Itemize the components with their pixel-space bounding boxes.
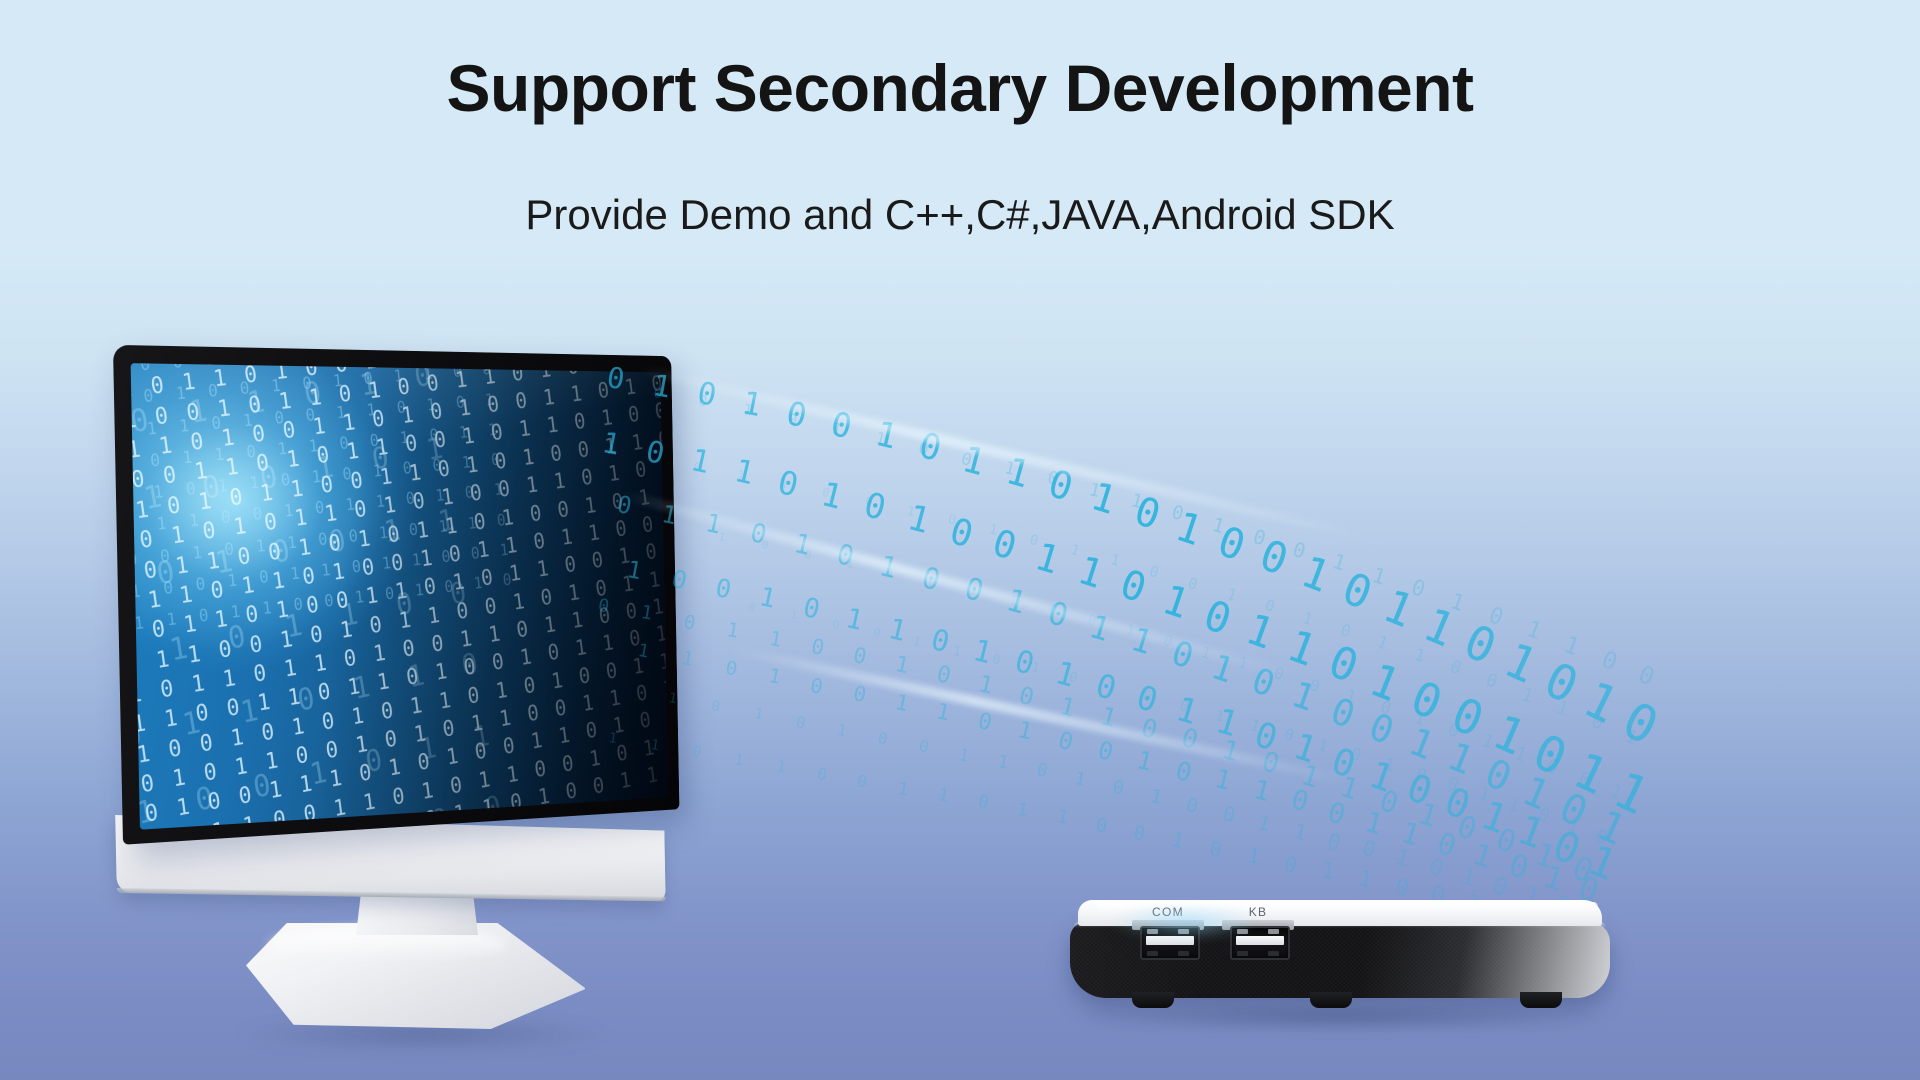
binary-digit: 0 <box>1478 750 1526 805</box>
binary-digit: 0 <box>1092 666 1130 710</box>
binary-digit: 0 <box>1597 645 1625 678</box>
binary-digit: 0 <box>1132 678 1170 722</box>
binary-digit: 1 <box>934 699 959 728</box>
binary-digit: 1 <box>1336 770 1369 809</box>
binary-digit: 0 <box>947 512 962 529</box>
binary-digit: 1 <box>1297 758 1329 796</box>
binary-digit: 1 <box>1518 684 1539 709</box>
binary-digit: 1 <box>1248 716 1265 737</box>
binary-digit: 0 <box>1568 850 1605 893</box>
device-foot-right <box>1520 992 1562 1008</box>
binary-digit: 1 <box>1156 575 1205 632</box>
binary-digit: 0 <box>1282 725 1300 746</box>
binary-digit: 0 <box>1250 525 1273 552</box>
binary-digit: 0 <box>1044 461 1089 513</box>
binary-digit: 0 <box>1535 651 1596 720</box>
binary-digit: 1 <box>1393 845 1417 874</box>
binary-digit: 1 <box>1343 686 1362 708</box>
binary-digit: 0 <box>1086 612 1102 631</box>
binary-digit: 1 <box>1030 660 1045 677</box>
binary-digit: 0 <box>1208 836 1229 863</box>
binary-digit: 0 <box>1349 744 1368 766</box>
binary-digit: 1 <box>1414 796 1448 836</box>
usb-notch <box>1178 951 1189 956</box>
binary-digit: 1 <box>1128 490 1149 514</box>
binary-digit: 1 <box>1069 542 1085 561</box>
binary-digit: 1 <box>1485 704 1544 771</box>
binary-digit: 0 <box>1011 644 1046 685</box>
binary-digit: 1 <box>1523 616 1550 647</box>
binary-digit: 1 <box>836 721 853 741</box>
binary-digit: 0 <box>915 425 956 473</box>
binary-digit: 0 <box>1093 814 1113 839</box>
page-title: Support Secondary Development <box>0 52 1920 125</box>
binary-digit: 0 <box>1138 712 1167 747</box>
binary-digit: 0 <box>1505 848 1540 889</box>
binary-digit: 1 <box>1212 764 1241 799</box>
binary-digit: 0 <box>1408 575 1433 604</box>
binary-digit: 0 <box>1148 563 1165 583</box>
binary-digit: 0 <box>800 592 831 628</box>
binary-digit: 1 <box>1590 800 1641 859</box>
binary-digit: 0 <box>975 708 1001 738</box>
binary-digit: 1 <box>1416 597 1473 662</box>
binary-digit: 0 <box>794 713 811 733</box>
binary-digit: 0 <box>1325 828 1348 857</box>
binary-digit: 1 <box>1363 653 1418 716</box>
device-foot-center <box>1310 992 1352 1008</box>
binary-digit: 0 <box>1588 711 1610 736</box>
binary-digit: 1 <box>893 652 918 681</box>
binary-digit: 1 <box>1199 643 1216 664</box>
binary-digit: 1 <box>1210 513 1232 540</box>
binary-digit: 1 <box>817 474 857 519</box>
device-foot-left <box>1132 992 1174 1008</box>
binary-digit: 0 <box>945 509 988 559</box>
binary-digit: 0 <box>1095 735 1123 768</box>
binary-digit: 1 <box>845 556 859 572</box>
binary-digit: 0 <box>783 394 821 438</box>
binary-digit: 1 <box>937 785 956 807</box>
binary-digit: 0 <box>1453 809 1488 850</box>
binary-digit: 0 <box>1525 723 1585 792</box>
binary-digit: 1 <box>1286 674 1329 723</box>
binary-digit: 1 <box>1565 741 1626 811</box>
binary-digit: 1 <box>1398 815 1431 854</box>
binary-digit: 0 <box>927 622 961 661</box>
monitor-bezel: 1 0 0 1 1 0 1 0 0 1 1 0 0 1 0 1 1 1 0 1 … <box>113 345 679 845</box>
binary-digit: 0 <box>877 728 895 749</box>
usb-notch <box>1147 951 1158 956</box>
promo-banner: Support Secondary Development Provide De… <box>0 0 1920 1080</box>
binary-digit: 1 <box>1506 794 1527 819</box>
binary-digit: 0 <box>1325 689 1369 740</box>
binary-digit: 1 <box>1055 806 1075 830</box>
binary-digit: 1 <box>1364 752 1408 804</box>
binary-digit: 1 <box>1003 583 1039 624</box>
stream-light-streak <box>726 644 1354 787</box>
binary-digit: 0 <box>1378 697 1397 719</box>
binary-digit: 0 <box>976 792 995 814</box>
binary-digit: 0 <box>1132 821 1153 847</box>
binary-digit: 1 <box>1213 706 1230 727</box>
binary-digit: 1 <box>1250 774 1280 810</box>
binary-digit: 1 <box>1207 647 1248 694</box>
binary-digit: 0 <box>1258 746 1289 782</box>
binary-digit: 0 <box>1434 826 1467 866</box>
binary-digit: 0 <box>1045 468 1065 491</box>
binary-digit: 1 <box>885 612 918 650</box>
binary-digit: 0 <box>809 634 833 661</box>
binary-digit: 0 <box>1162 632 1179 652</box>
binary-digit: 1 <box>1496 632 1555 699</box>
binary-digit: 1 <box>957 744 976 767</box>
binary-digit: 1 <box>1376 579 1431 643</box>
binary-digit: 1 <box>1016 717 1042 747</box>
binary-digit: 0 <box>917 438 936 460</box>
binary-digit: 0 <box>1485 602 1511 633</box>
binary-digit: 1 <box>1469 837 1503 878</box>
binary-digit: 0 <box>815 764 833 785</box>
binary-digit: 0 <box>1067 669 1083 687</box>
binary-digit: 0 <box>851 681 875 708</box>
binary-digit: 1 <box>1170 828 1191 854</box>
binary-digit: 1 <box>1553 697 1575 722</box>
binary-digit: 1 <box>1281 621 1333 681</box>
binary-digit: 1 <box>1447 589 1472 619</box>
binary-digit: 0 <box>1544 755 1565 780</box>
binary-digit: 0 <box>1438 779 1484 832</box>
binary-digit: 0 <box>1324 795 1356 833</box>
binary-digit: 1 <box>1316 735 1334 757</box>
binary-digit: 0 <box>856 771 874 792</box>
binary-digit: 0 <box>1635 660 1664 693</box>
binary-digit: 0 <box>1263 596 1281 617</box>
binary-digit: 0 <box>1446 720 1466 744</box>
binary-digit: 1 <box>843 602 875 639</box>
binary-digit: 1 <box>1403 719 1449 772</box>
binary-digit: 1 <box>886 565 900 581</box>
binary-digit: 0 <box>1288 784 1319 820</box>
binary-digit: 1 <box>1411 645 1431 669</box>
page-subtitle: Provide Demo and C++,C#,JAVA,Android SDK <box>0 192 1920 238</box>
binary-digit: 1 <box>1086 474 1132 527</box>
binary-digit: 1 <box>958 437 1001 487</box>
binary-digit: 1 <box>1511 806 1559 862</box>
binary-digit: 1 <box>1087 479 1108 503</box>
binary-digit: 0 <box>803 547 816 563</box>
binary-digit: 0 <box>1404 670 1460 735</box>
device-stream-glow <box>1110 904 1260 940</box>
binary-digit: 1 <box>1382 754 1401 776</box>
binary-digit: 1 <box>1245 843 1267 870</box>
binary-digit: 1 <box>1356 866 1379 894</box>
binary-digit: 0 <box>1375 783 1409 823</box>
binary-digit: 1 <box>1369 562 1394 591</box>
binary-digit: 0 <box>919 560 953 600</box>
binary-digit: 0 <box>961 571 996 612</box>
binary-digit: 1 <box>1256 810 1278 837</box>
binary-digit: 1 <box>871 414 911 460</box>
binary-digit: 0 <box>1016 681 1043 713</box>
binary-digit: 1 <box>876 549 909 587</box>
binary-digit: 0 <box>860 485 901 532</box>
binary-digit: 0 <box>1490 872 1516 903</box>
binary-digit: 1 <box>1575 670 1637 740</box>
binary-digit: 0 <box>1055 726 1082 758</box>
binary-digit: 1 <box>1236 653 1254 674</box>
binary-digit: 1 <box>906 503 920 520</box>
binary-digit: 1 <box>1098 701 1127 735</box>
binary-digit: 1 <box>1412 708 1432 731</box>
binary-digit: 1 <box>1016 799 1035 823</box>
binary-digit: 1 <box>968 583 983 600</box>
binary-digit: 1 <box>1479 731 1499 755</box>
binary-digit: 0 <box>1186 574 1203 595</box>
binary-digit: 1 <box>1512 743 1533 768</box>
binary-digit: 1 <box>1622 725 1645 751</box>
binary-digit: 1 <box>1170 502 1219 559</box>
binary-digit: 1 <box>996 752 1015 775</box>
binary-digit: 0 <box>1184 793 1205 819</box>
binary-digit: 1 <box>1031 534 1076 586</box>
binary-digit: 1 <box>1330 549 1354 577</box>
binary-digit: 1 <box>1148 785 1169 810</box>
binary-digit: 1 <box>976 671 1002 701</box>
binary-digit: 1 <box>1605 760 1668 831</box>
binary-digit: 0 <box>1250 714 1291 762</box>
binary-digit: 1 <box>903 497 945 545</box>
binary-digit: 0 <box>1338 620 1357 642</box>
binary-digit: 0 <box>1614 690 1678 761</box>
binary-digit: 1 <box>1124 622 1140 641</box>
kvm-controller-box: COM KB <box>1070 900 1610 1030</box>
binary-digit: 1 <box>1361 805 1393 843</box>
binary-digit: 1 <box>1051 655 1087 697</box>
binary-digit: 1 <box>1441 734 1488 788</box>
binary-digit: 0 <box>1491 822 1527 863</box>
binary-digit: 1 <box>1288 726 1330 774</box>
binary-digit: 1 <box>1516 767 1565 823</box>
binary-digit: 1 <box>969 633 1004 674</box>
binary-digit: 0 <box>1290 537 1313 565</box>
monitor-screen: 1 0 0 1 1 0 1 0 0 1 1 0 0 1 0 1 1 1 0 1 … <box>131 363 669 830</box>
binary-digit: 0 <box>927 574 942 591</box>
binary-digit: 1 <box>1458 863 1483 893</box>
usb-pin <box>1268 929 1279 934</box>
binary-digit: 0 <box>1212 516 1262 574</box>
binary-digit: 1 <box>1225 585 1243 606</box>
binary-digit: 0 <box>1142 688 1158 707</box>
binary-digit: 0 <box>1035 760 1054 783</box>
binary-digit: 0 <box>1483 670 1504 694</box>
binary-digit: 1 <box>1001 449 1045 499</box>
binary-digit: 0 <box>1456 614 1514 680</box>
binary-digit: 0 <box>1308 675 1327 697</box>
binary-digit: 1 <box>988 522 1003 539</box>
binary-digit: 0 <box>864 494 878 510</box>
binary-digit: 0 <box>934 661 960 691</box>
binary-digit: 1 <box>1582 835 1632 893</box>
binary-digit: 0 <box>1426 854 1451 884</box>
binary-digit: 0 <box>1169 501 1191 527</box>
binary-digit: 1 <box>1564 815 1585 840</box>
binary-digit: 0 <box>1253 531 1304 590</box>
binary-digit: 1 <box>1007 593 1022 610</box>
binary-digit: 0 <box>1173 755 1202 790</box>
binary-digit: 0 <box>917 736 935 758</box>
binary-digit: 0 <box>774 463 813 507</box>
binary-digit: 1 <box>1476 784 1496 808</box>
binary-digit: 1 <box>1172 689 1211 735</box>
binary-digit: 1 <box>1108 552 1124 571</box>
binary-digit: 0 <box>1335 563 1389 624</box>
binary-digit: 0 <box>988 521 1032 572</box>
binary-digit: 1 <box>1240 605 1291 664</box>
binary-digit: 1 <box>893 690 918 719</box>
binary-digit: 1 <box>1561 631 1588 663</box>
binary-digit: 0 <box>1535 804 1556 829</box>
binary-digit: 1 <box>896 778 914 800</box>
binary-digit: 0 <box>1445 774 1465 797</box>
binary-digit: 1 <box>1295 547 1347 607</box>
binary-digit: 0 <box>1447 657 1467 681</box>
binary-digit: 0 <box>960 448 979 471</box>
binary-digit: 1 <box>1475 792 1522 847</box>
binary-digit: 0 <box>1359 836 1383 865</box>
binary-digit: 0 <box>1576 768 1598 793</box>
binary-digit: 1 <box>1073 548 1119 601</box>
binary-digit: 0 <box>1272 664 1290 685</box>
binary-digit: 0 <box>1401 765 1446 817</box>
all-in-one-desktop-monitor: 1 0 0 1 1 0 1 0 0 1 1 0 0 1 0 1 1 1 0 1 … <box>118 345 778 905</box>
binary-digit: 0 <box>1044 595 1081 637</box>
binary-digit: 0 <box>1028 532 1044 550</box>
screen-sheen <box>131 363 669 830</box>
binary-digit: 1 <box>1126 620 1165 665</box>
binary-digit: 0 <box>1546 821 1595 878</box>
binary-digit: 0 <box>851 643 876 672</box>
binary-digit: 0 <box>834 538 866 575</box>
binary-digit: 0 <box>991 652 1006 669</box>
binary-digit: 0 <box>1592 825 1614 851</box>
binary-digit: 1 <box>1057 691 1085 724</box>
binary-digit: 1 <box>779 476 792 492</box>
binary-digit: 0 <box>1167 633 1207 679</box>
binary-digit: 1 <box>1134 745 1162 778</box>
usb-notch <box>1237 951 1248 956</box>
binary-digit: 0 <box>1444 687 1502 753</box>
binary-digit: 1 <box>791 528 822 564</box>
binary-digit: 0 <box>786 410 803 430</box>
binary-digit: 0 <box>1246 660 1288 709</box>
binary-digit: 0 <box>1392 874 1415 903</box>
binary-digit: 1 <box>830 419 848 440</box>
binary-digit: 1 <box>1607 780 1630 806</box>
binary-digit: 0 <box>828 404 867 449</box>
binary-digit: 1 <box>1211 701 1251 748</box>
binary-digit: 0 <box>1111 777 1131 801</box>
binary-digit: 1 <box>1319 858 1342 886</box>
binary-digit: 1 <box>1375 632 1394 654</box>
binary-digit: 0 <box>831 617 845 633</box>
binary-digit: 1 <box>1301 608 1320 630</box>
binary-digit: 0 <box>1364 704 1409 756</box>
binary-digit: 1 <box>1073 768 1093 792</box>
binary-digit: 0 <box>1322 636 1376 697</box>
binary-digit: 0 <box>1178 723 1208 758</box>
binary-digit: 0 <box>1282 851 1304 879</box>
binary-digit: 0 <box>1115 561 1163 616</box>
binary-digit: 0 <box>1413 764 1433 787</box>
binary-digit: 1 <box>790 608 803 623</box>
binary-digit: 0 <box>809 673 833 700</box>
binary-digit: 0 <box>1220 802 1242 828</box>
binary-digit: 1 <box>1085 607 1123 652</box>
binary-digit: 1 <box>1529 836 1565 879</box>
binary-digit: 0 <box>1047 602 1063 620</box>
binary-digit: 0 <box>872 625 886 641</box>
binary-digit: 0 <box>822 485 836 501</box>
binary-digit: 1 <box>1105 679 1121 697</box>
binary-digit: 1 <box>912 634 926 650</box>
binary-digit: 1 <box>1291 819 1314 846</box>
binary-digit: 1 <box>1218 734 1249 770</box>
binary-digit: 0 <box>1326 739 1369 790</box>
binary-digit: 1 <box>1003 458 1023 481</box>
binary-digit: 1 <box>1539 859 1574 901</box>
binary-digit: 0 <box>1553 783 1603 841</box>
binary-digit: 1 <box>952 643 967 660</box>
binary-digit: 1 <box>874 428 892 450</box>
binary-digit: 0 <box>1128 488 1175 542</box>
binary-digit: 0 <box>1198 590 1248 648</box>
binary-digit: 0 <box>1178 697 1195 717</box>
usb-notch <box>1268 951 1279 956</box>
